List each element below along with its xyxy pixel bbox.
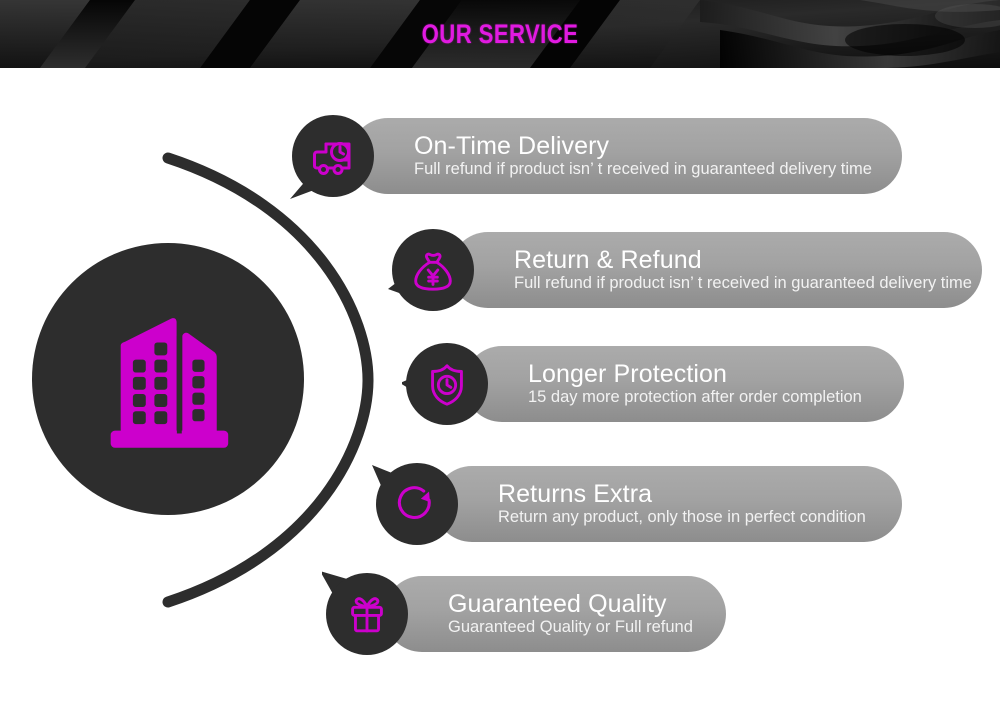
service-pill-2: Return & Refund Full refund if product i…: [450, 232, 982, 308]
buildings-icon: [32, 243, 304, 515]
service-row-1[interactable]: On-Time Delivery Full refund if product …: [288, 113, 902, 199]
service-subtitle: Guaranteed Quality or Full refund: [448, 618, 700, 637]
service-subtitle: Return any product, only those in perfec…: [498, 508, 876, 527]
service-pill-5: Guaranteed Quality Guaranteed Quality or…: [384, 576, 726, 652]
service-badge-5: [322, 571, 408, 657]
service-pill-1: On-Time Delivery Full refund if product …: [350, 118, 902, 194]
service-subtitle: 15 day more protection after order compl…: [528, 388, 878, 407]
service-badge-3: [402, 341, 488, 427]
service-pill-4: Returns Extra Return any product, only t…: [434, 466, 902, 542]
service-infographic: OUR SERVICE: [0, 0, 1000, 726]
service-row-5[interactable]: Guaranteed Quality Guaranteed Quality or…: [322, 571, 726, 657]
gift-box-icon: [322, 571, 408, 657]
service-badge-4: [372, 461, 458, 547]
service-row-4[interactable]: Returns Extra Return any product, only t…: [372, 461, 902, 547]
service-subtitle: Full refund if product isn’ t received i…: [514, 274, 956, 293]
service-subtitle: Full refund if product isn’ t received i…: [414, 160, 876, 179]
page-title: OUR SERVICE: [90, 0, 910, 68]
truck-clock-icon: [288, 113, 374, 199]
service-title: Return & Refund: [514, 247, 956, 273]
header-banner: OUR SERVICE: [0, 0, 1000, 68]
service-title: On-Time Delivery: [414, 133, 876, 159]
service-row-2[interactable]: Return & Refund Full refund if product i…: [388, 227, 982, 313]
service-pill-3: Longer Protection 15 day more protection…: [464, 346, 904, 422]
service-title: Guaranteed Quality: [448, 591, 700, 617]
service-title: Returns Extra: [498, 481, 876, 507]
money-bag-yen-icon: [388, 227, 474, 313]
service-badge-2: [388, 227, 474, 313]
refresh-arrow-icon: [372, 461, 458, 547]
service-badge-1: [288, 113, 374, 199]
shield-clock-icon: [402, 341, 488, 427]
service-title: Longer Protection: [528, 361, 878, 387]
service-row-3[interactable]: Longer Protection 15 day more protection…: [402, 341, 904, 427]
